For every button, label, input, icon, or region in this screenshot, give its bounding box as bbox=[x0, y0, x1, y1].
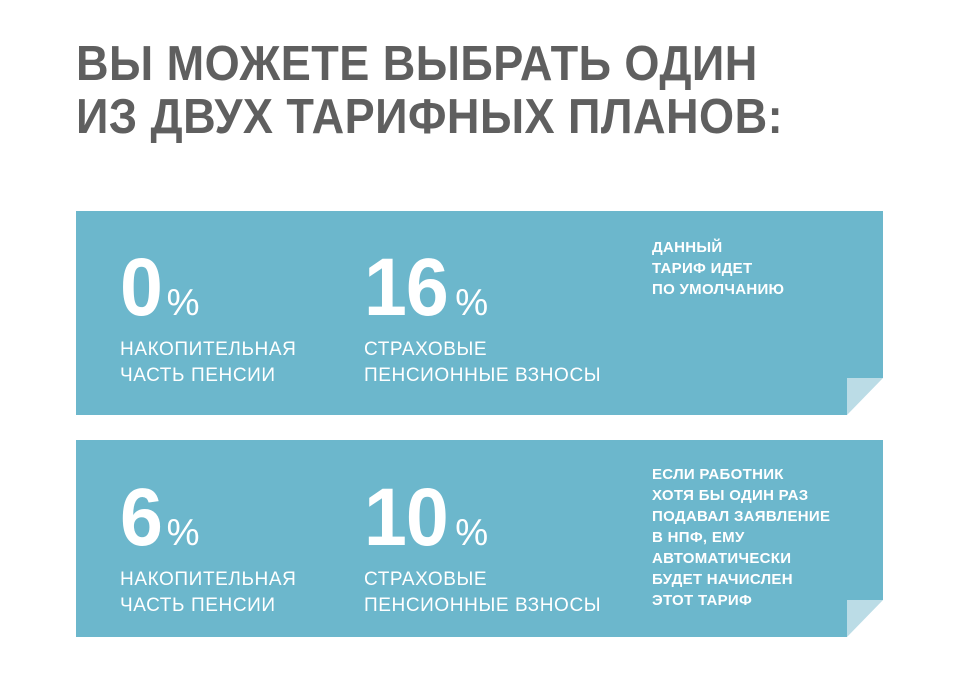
plan-note-line: ТАРИФ ИДЕТ bbox=[652, 258, 784, 279]
page-title-line-1: ВЫ МОЖЕТЕ ВЫБРАТЬ ОДИН bbox=[76, 38, 840, 91]
tariff-plan-card-default: 0% НАКОПИТЕЛЬНАЯ ЧАСТЬ ПЕНСИИ 16% СТРАХО… bbox=[76, 211, 883, 415]
stat-number: 10 bbox=[364, 477, 448, 559]
plan-note-line: ЭТОТ ТАРИФ bbox=[652, 590, 830, 611]
panel-content: 0% НАКОПИТЕЛЬНАЯ ЧАСТЬ ПЕНСИИ 16% СТРАХО… bbox=[76, 211, 883, 415]
page-title: ВЫ МОЖЕТЕ ВЫБРАТЬ ОДИН ИЗ ДВУХ ТАРИФНЫХ … bbox=[76, 38, 906, 144]
plan-note-line: ПО УМОЛЧАНИЮ bbox=[652, 279, 784, 300]
stat-funded-part: 6% НАКОПИТЕЛЬНАЯ ЧАСТЬ ПЕНСИИ bbox=[120, 477, 296, 619]
percent-sign: % bbox=[455, 284, 488, 321]
stat-label-line-1: СТРАХОВЫЕ bbox=[364, 567, 601, 593]
plan-note-line: ЕСЛИ РАБОТНИК bbox=[652, 464, 830, 485]
plan-note-line: ДАННЫЙ bbox=[652, 237, 784, 258]
stat-insurance-contributions: 16% СТРАХОВЫЕ ПЕНСИОННЫЕ ВЗНОСЫ bbox=[364, 247, 601, 389]
percent-sign: % bbox=[167, 514, 200, 551]
plan-note: ДАННЫЙ ТАРИФ ИДЕТ ПО УМОЛЧАНИЮ bbox=[652, 237, 784, 300]
stat-value: 16% bbox=[364, 247, 601, 325]
tariff-plan-card-npf: 6% НАКОПИТЕЛЬНАЯ ЧАСТЬ ПЕНСИИ 10% СТРАХО… bbox=[76, 440, 883, 637]
stat-label: НАКОПИТЕЛЬНАЯ ЧАСТЬ ПЕНСИИ bbox=[120, 567, 296, 619]
stat-label-line-2: ЧАСТЬ ПЕНСИИ bbox=[120, 593, 296, 619]
page-title-line-2: ИЗ ДВУХ ТАРИФНЫХ ПЛАНОВ: bbox=[76, 91, 840, 144]
stat-number: 0 bbox=[120, 247, 162, 329]
plan-note: ЕСЛИ РАБОТНИК ХОТЯ БЫ ОДИН РАЗ ПОДАВАЛ З… bbox=[652, 464, 830, 611]
stat-label-line-1: НАКОПИТЕЛЬНАЯ bbox=[120, 567, 296, 593]
stat-label: СТРАХОВЫЕ ПЕНСИОННЫЕ ВЗНОСЫ bbox=[364, 337, 601, 389]
percent-sign: % bbox=[455, 514, 488, 551]
infographic-root: ВЫ МОЖЕТЕ ВЫБРАТЬ ОДИН ИЗ ДВУХ ТАРИФНЫХ … bbox=[0, 0, 960, 688]
stat-insurance-contributions: 10% СТРАХОВЫЕ ПЕНСИОННЫЕ ВЗНОСЫ bbox=[364, 477, 601, 619]
stat-value: 6% bbox=[120, 477, 296, 555]
stat-label-line-1: СТРАХОВЫЕ bbox=[364, 337, 601, 363]
stat-label-line-2: ПЕНСИОННЫЕ ВЗНОСЫ bbox=[364, 363, 601, 389]
plan-note-line: В НПФ, ЕМУ bbox=[652, 527, 830, 548]
plan-note-line: ХОТЯ БЫ ОДИН РАЗ bbox=[652, 485, 830, 506]
stat-funded-part: 0% НАКОПИТЕЛЬНАЯ ЧАСТЬ ПЕНСИИ bbox=[120, 247, 296, 389]
plan-note-line: БУДЕТ НАЧИСЛЕН bbox=[652, 569, 830, 590]
plan-note-line: АВТОМАТИЧЕСКИ bbox=[652, 548, 830, 569]
stat-number: 6 bbox=[120, 477, 162, 559]
stat-label-line-1: НАКОПИТЕЛЬНАЯ bbox=[120, 337, 296, 363]
stat-value: 10% bbox=[364, 477, 601, 555]
percent-sign: % bbox=[167, 284, 200, 321]
stat-label-line-2: ЧАСТЬ ПЕНСИИ bbox=[120, 363, 296, 389]
stat-label-line-2: ПЕНСИОННЫЕ ВЗНОСЫ bbox=[364, 593, 601, 619]
stat-value: 0% bbox=[120, 247, 296, 325]
stat-label: СТРАХОВЫЕ ПЕНСИОННЫЕ ВЗНОСЫ bbox=[364, 567, 601, 619]
stat-number: 16 bbox=[364, 247, 448, 329]
plan-note-line: ПОДАВАЛ ЗАЯВЛЕНИЕ bbox=[652, 506, 830, 527]
panel-content: 6% НАКОПИТЕЛЬНАЯ ЧАСТЬ ПЕНСИИ 10% СТРАХО… bbox=[76, 440, 883, 637]
stat-label: НАКОПИТЕЛЬНАЯ ЧАСТЬ ПЕНСИИ bbox=[120, 337, 296, 389]
